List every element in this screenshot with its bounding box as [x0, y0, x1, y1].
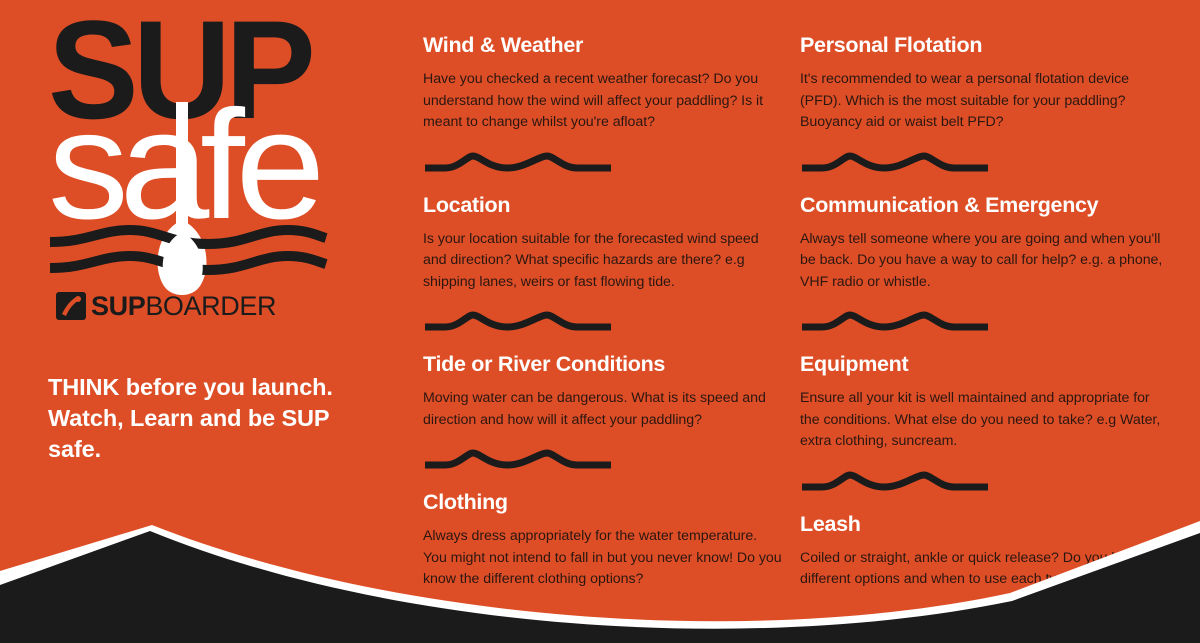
tagline: THINK before you launch. Watch, Learn an…	[48, 372, 368, 465]
topic-body: It's recommended to wear a personal flot…	[800, 69, 1172, 134]
supboarder-light: BOARDER	[145, 291, 276, 321]
brand-panel: SUP safe SUPBOARDER	[0, 0, 400, 520]
sup-safe-logo-icon: SUP safe	[48, 6, 328, 306]
topic-block-tide-or-river-conditions: Tide or River Conditions Moving water ca…	[423, 351, 783, 431]
topic-heading: Leash	[800, 511, 1172, 537]
topic-body: Always tell someone where you are going …	[800, 229, 1172, 294]
topic-body: Coiled or straight, ankle or quick relea…	[800, 548, 1172, 591]
topic-block-personal-flotation: Personal Flotation It's recommended to w…	[800, 32, 1172, 134]
wave-divider-icon	[800, 150, 990, 176]
supboarder-logo: SUPBOARDER	[56, 290, 276, 322]
topic-body: Is your location suitable for the foreca…	[423, 229, 783, 294]
topic-body: Always dress appropriately for the water…	[423, 526, 783, 591]
wave-divider-icon	[423, 447, 613, 473]
topic-block-clothing: Clothing Always dress appropriately for …	[423, 489, 783, 591]
content-column-left: Wind & Weather Have you checked a recent…	[423, 32, 783, 591]
content-column-right: Personal Flotation It's recommended to w…	[800, 32, 1172, 591]
svg-text:safe: safe	[48, 78, 319, 251]
supboarder-paddler-icon	[56, 292, 86, 320]
wave-divider-icon	[423, 309, 613, 335]
topic-body: Moving water can be dangerous. What is i…	[423, 388, 783, 431]
topic-body: Have you checked a recent weather foreca…	[423, 69, 783, 134]
supboarder-wordmark: SUPBOARDER	[91, 292, 276, 320]
topic-heading: Communication & Emergency	[800, 192, 1172, 218]
topic-heading: Personal Flotation	[800, 32, 1172, 58]
wave-divider-icon	[800, 309, 990, 335]
topic-block-wind-weather: Wind & Weather Have you checked a recent…	[423, 32, 783, 134]
wave-divider-icon	[800, 469, 990, 495]
topic-heading: Location	[423, 192, 783, 218]
topic-heading: Equipment	[800, 351, 1172, 377]
topic-heading: Wind & Weather	[423, 32, 783, 58]
topic-block-equipment: Equipment Ensure all your kit is well ma…	[800, 351, 1172, 453]
topic-block-communication-emergency: Communication & Emergency Always tell so…	[800, 192, 1172, 294]
topic-block-location: Location Is your location suitable for t…	[423, 192, 783, 294]
wave-divider-icon	[423, 150, 613, 176]
topic-body: Ensure all your kit is well maintained a…	[800, 388, 1172, 453]
sup-safe-logo: SUP safe	[48, 6, 328, 306]
topic-heading: Clothing	[423, 489, 783, 515]
topic-heading: Tide or River Conditions	[423, 351, 783, 377]
topic-block-leash: Leash Coiled or straight, ankle or quick…	[800, 511, 1172, 591]
sup-safe-infographic: SUP safe SUPBOARDER	[0, 0, 1200, 643]
supboarder-bold: SUP	[91, 291, 145, 321]
